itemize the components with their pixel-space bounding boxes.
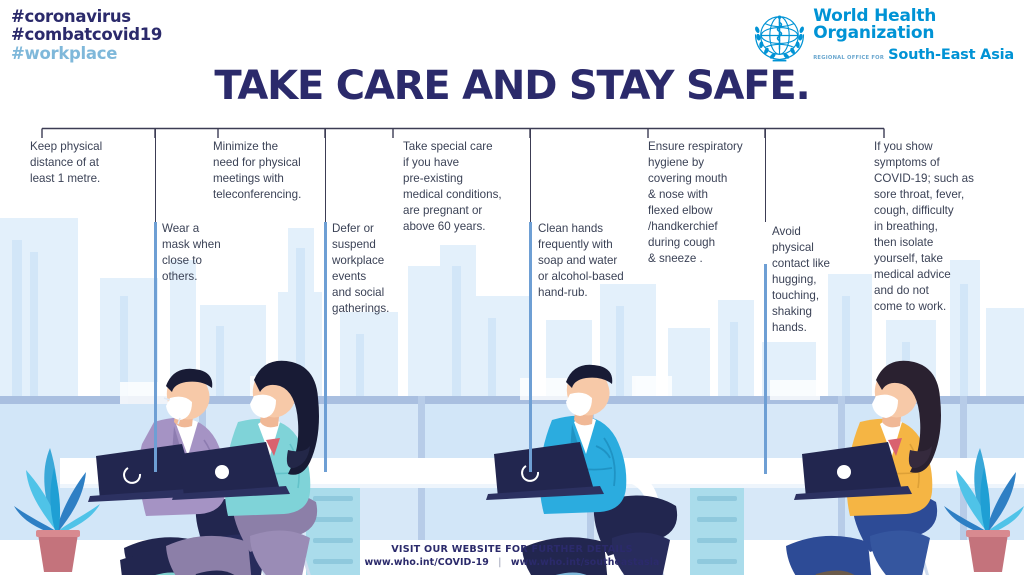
hashtag-combatcovid19: #combatcovid19 xyxy=(11,26,162,44)
tip-minimize-meetings: Minimize the need for physical meetings … xyxy=(213,139,338,203)
footer-url-searo[interactable]: www.who.int/southeastasia xyxy=(511,557,660,568)
drop-line-mask xyxy=(155,128,156,222)
who-wordmark: World Health Organization REGIONAL OFFIC… xyxy=(813,7,1014,63)
drop-line-contact-lower xyxy=(764,264,767,474)
tip-clean-hands: Clean hands frequently with soap and wat… xyxy=(538,221,658,301)
drop-line-events-lower xyxy=(324,222,327,472)
tip-wear-mask: Wear a mask when close to others. xyxy=(162,221,272,285)
footer: VISIT OUR WEBSITE FOR FURTHER DETAILS ww… xyxy=(0,544,1024,568)
hashtag-workplace: #workplace xyxy=(11,45,162,63)
drop-line-hands-lower xyxy=(529,222,532,472)
who-region-name: South-East Asia xyxy=(888,47,1014,63)
page-title: TAKE CARE AND STAY SAFE. xyxy=(0,63,1024,109)
tip-defer-events: Defer or suspend workplace events and so… xyxy=(332,221,427,317)
tip-avoid-contact: Avoid physical contact like hugging, tou… xyxy=(772,224,870,336)
footer-url-separator: | xyxy=(498,557,501,568)
drop-line-mask-lower xyxy=(154,222,157,472)
who-logo: World Health Organization REGIONAL OFFIC… xyxy=(751,7,1014,64)
bracket-rule xyxy=(0,110,1024,138)
tip-symptoms-isolate: If you show symptoms of COVID-19; such a… xyxy=(874,139,999,315)
footer-headline: VISIT OUR WEBSITE FOR FURTHER DETAILS xyxy=(0,544,1024,555)
tip-physical-distance: Keep physical distance of at least 1 met… xyxy=(30,139,150,187)
who-regional-prefix: REGIONAL OFFICE FOR xyxy=(813,55,884,61)
hashtag-coronavirus: #coronavirus xyxy=(11,8,162,26)
infographic-poster: #coronavirus #combatcovid19 #workplace xyxy=(0,0,1024,575)
who-emblem-icon xyxy=(751,7,808,64)
who-line-2: Organization xyxy=(813,25,1014,42)
footer-url-covid[interactable]: www.who.int/COVID-19 xyxy=(365,557,489,568)
hashtag-block: #coronavirus #combatcovid19 #workplace xyxy=(11,8,162,63)
footer-urls: www.who.int/COVID-19 | www.who.int/south… xyxy=(0,557,1024,568)
tip-special-care: Take special care if you have pre-existi… xyxy=(403,139,538,235)
tip-respiratory-hygiene: Ensure respiratory hygiene by covering m… xyxy=(648,139,768,267)
